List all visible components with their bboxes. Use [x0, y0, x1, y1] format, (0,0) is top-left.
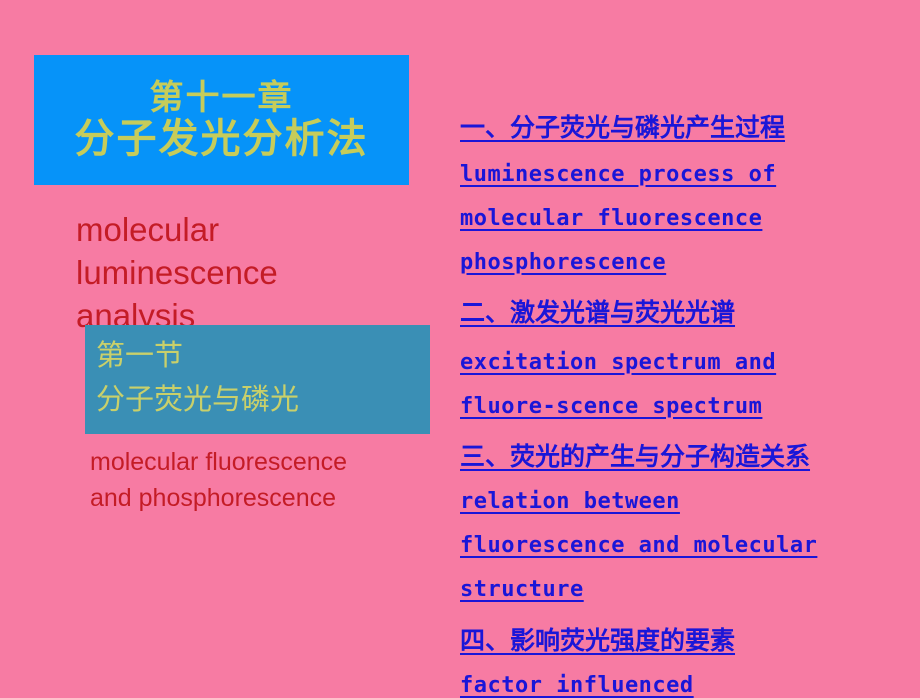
left-column: 第十一章 分子发光分析法 molecular luminescence anal… [0, 0, 450, 690]
toc-item[interactable]: 三、荧光的产生与分子构造关系 [460, 437, 810, 473]
toc-item[interactable]: factor influenced [460, 673, 694, 698]
toc-item[interactable]: fluorescence and molecular [460, 533, 817, 558]
chapter-title-box: 第十一章 分子发光分析法 [34, 55, 409, 185]
toc-item[interactable]: structure [460, 577, 584, 602]
slide-canvas: 第十一章 分子发光分析法 molecular luminescence anal… [0, 0, 920, 690]
toc-item[interactable]: 一、分子荧光与磷光产生过程 [460, 108, 785, 144]
chapter-name-label: 分子发光分析法 [75, 117, 369, 162]
toc-item[interactable]: relation between [460, 489, 680, 514]
toc-item[interactable]: fluore-scence spectrum [460, 394, 762, 419]
toc-item[interactable]: excitation spectrum and [460, 350, 776, 375]
toc-item[interactable]: 二、激发光谱与荧光光谱 [460, 293, 735, 329]
english-title-line-1: molecular [76, 208, 406, 251]
section-name-label: 分子荧光与磷光 [96, 377, 430, 421]
table-of-contents: 一、分子荧光与磷光产生过程luminescence process ofmole… [455, 100, 920, 690]
section-number-label: 第一节 [96, 333, 430, 377]
english-subtitle-line-1: molecular fluorescence [90, 444, 435, 480]
toc-item[interactable]: phosphorescence [460, 250, 666, 275]
toc-item[interactable]: 四、影响荧光强度的要素 [460, 621, 735, 657]
english-title: molecular luminescence analysis [76, 208, 406, 337]
english-subtitle-line-2: and phosphorescence [90, 480, 435, 516]
english-subtitle: molecular fluorescence and phosphorescen… [90, 444, 435, 516]
section-title-box: 第一节 分子荧光与磷光 [85, 325, 430, 434]
toc-item[interactable]: molecular fluorescence [460, 206, 762, 231]
english-title-line-2: luminescence [76, 251, 406, 294]
chapter-number-label: 第十一章 [150, 79, 294, 117]
toc-item[interactable]: luminescence process of [460, 162, 776, 187]
